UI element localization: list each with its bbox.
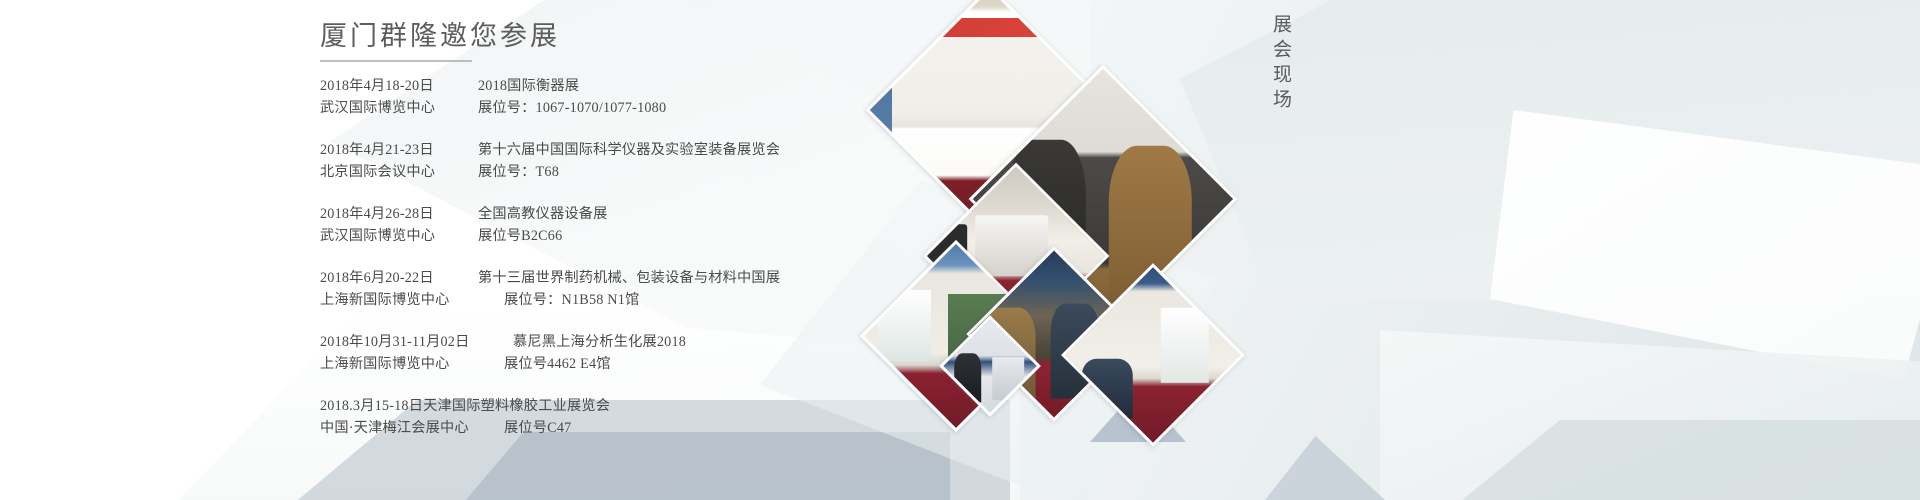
- entry-venue: 中国·天津梅江会展中心: [320, 417, 496, 439]
- photo-collage: [840, 0, 1260, 500]
- exhibition-banner: 厦门群隆邀您参展 2018年4月18-20日 2018国际衡器展 武汉国际博览中…: [0, 0, 1920, 500]
- entry-date: 2018年10月31-11月02日: [320, 331, 505, 353]
- entry-name: 2018国际衡器展: [470, 75, 579, 97]
- entry-date: 2018年4月18-20日: [320, 75, 470, 97]
- entry-date: 2018.3月15-18日天津国际塑料橡胶工业展览会: [320, 395, 610, 417]
- entry-booth: 展位号：N1B58 N1馆: [496, 289, 639, 311]
- entry-name: 第十三届世界制药机械、包装设备与材料中国展: [470, 267, 780, 289]
- entry-booth: 展位号：T68: [470, 161, 559, 183]
- entry-name: 慕尼黑上海分析生化展2018: [505, 331, 686, 353]
- entry-booth: 展位号C47: [496, 417, 571, 439]
- entry-venue: 武汉国际博览中心: [320, 225, 470, 247]
- entry-booth: 展位号4462 E4馆: [496, 353, 611, 375]
- background-facet-8: [1380, 330, 1920, 500]
- entry-venue: 北京国际会议中心: [320, 161, 470, 183]
- background-facet-9: [1450, 420, 1920, 500]
- entry-booth: 展位号B2C66: [470, 225, 562, 247]
- entry-date: 2018年4月26-28日: [320, 203, 470, 225]
- entry-venue: 上海新国际博览中心: [320, 289, 496, 311]
- title-underline: [320, 60, 472, 62]
- entry-booth: 展位号：1067-1070/1077-1080: [470, 97, 666, 119]
- decorative-triangle-3: [1265, 436, 1385, 500]
- vertical-section-label: 展会现场: [1258, 14, 1294, 114]
- entry-name: 全国高教仪器设备展: [470, 203, 608, 225]
- entry-date: 2018年6月20-22日: [320, 267, 470, 289]
- entry-venue: 武汉国际博览中心: [320, 97, 470, 119]
- entry-venue: 上海新国际博览中心: [320, 353, 496, 375]
- entry-date: 2018年4月21-23日: [320, 139, 470, 161]
- entry-name: 第十六届中国国际科学仪器及实验室装备展览会: [470, 139, 780, 161]
- background-facet-7: [1490, 110, 1920, 380]
